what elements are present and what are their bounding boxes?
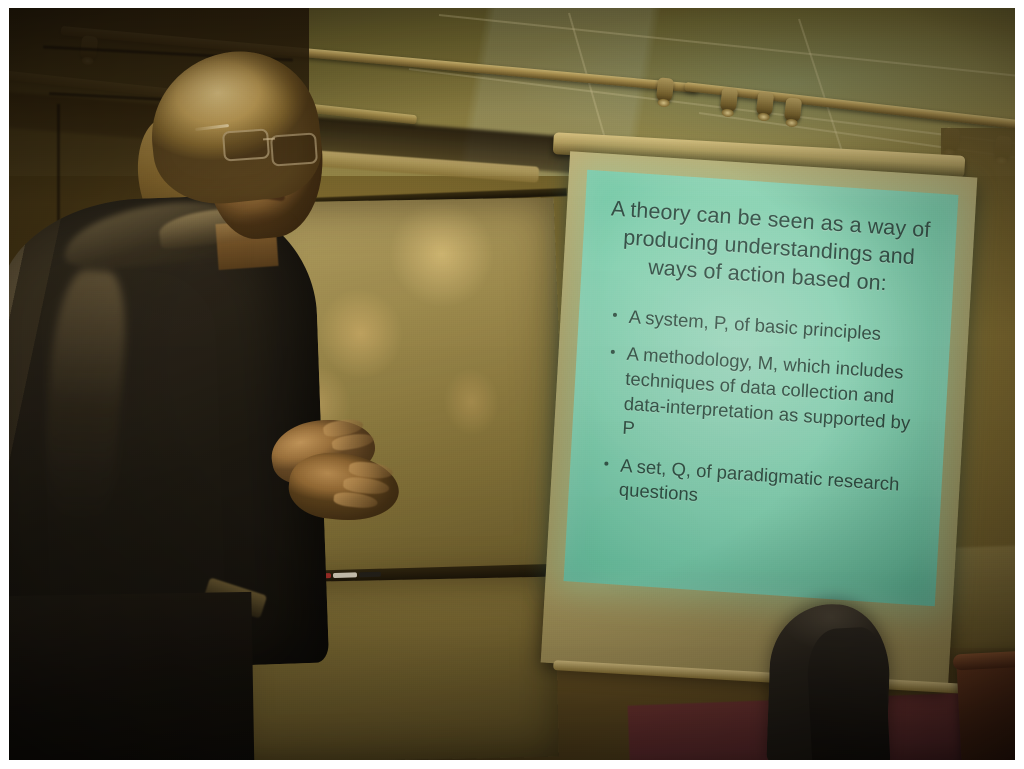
slide-bullet-item: A methodology, M, which includes techniq… <box>602 341 927 461</box>
slide-bullet-list: A system, P, of basic principles A metho… <box>598 303 929 523</box>
slide-content: A theory can be seen as a way of produci… <box>564 170 959 607</box>
slide-bullet-item: A set, Q, of paradigmatic research quest… <box>598 452 920 523</box>
hair <box>144 44 327 211</box>
eyeglasses-left-lens <box>222 128 270 161</box>
slide-title: A theory can be seen as a way of produci… <box>603 195 935 301</box>
photograph: A theory can be seen as a way of produci… <box>9 8 1015 760</box>
slide-bullet-item: A system, P, of basic principles <box>608 303 929 349</box>
eyeglasses-right-lens <box>270 132 318 166</box>
projected-slide: A theory can be seen as a way of produci… <box>564 170 959 607</box>
photo-frame: A theory can be seen as a way of produci… <box>0 0 1024 769</box>
speaker <box>9 34 429 760</box>
legs <box>9 592 255 760</box>
projection-screen: A theory can be seen as a way of produci… <box>533 136 1003 696</box>
foreground-coat-fold <box>805 626 890 760</box>
chin-shadow <box>233 210 297 236</box>
